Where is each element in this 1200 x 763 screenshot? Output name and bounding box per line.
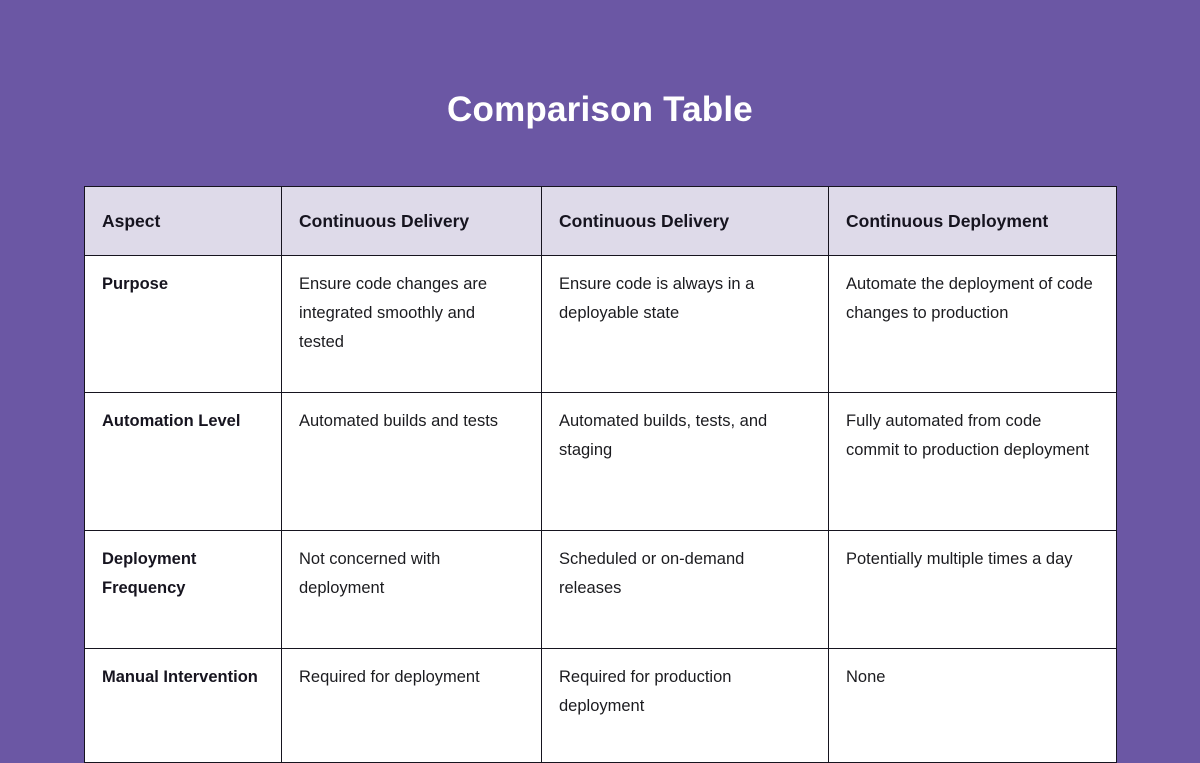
- table-body: Purpose Ensure code changes are integrat…: [85, 256, 1117, 763]
- cell-automation-level-continuous-deployment: Fully automated from code commit to prod…: [829, 393, 1117, 531]
- column-header-continuous-deployment: Continuous Deployment: [829, 187, 1117, 256]
- cell-purpose-continuous-deployment: Automate the deployment of code changes …: [829, 256, 1117, 393]
- column-header-continuous-delivery-1: Continuous Delivery: [282, 187, 542, 256]
- row-label-purpose: Purpose: [85, 256, 282, 393]
- comparison-table: Aspect Continuous Delivery Continuous De…: [84, 186, 1117, 763]
- column-header-continuous-delivery-2: Continuous Delivery: [542, 187, 829, 256]
- cell-purpose-continuous-delivery-1: Ensure code changes are integrated smoot…: [282, 256, 542, 393]
- row-label-deployment-frequency: Deployment Frequency: [85, 531, 282, 649]
- cell-automation-level-continuous-delivery-1: Automated builds and tests: [282, 393, 542, 531]
- table-header: Aspect Continuous Delivery Continuous De…: [85, 187, 1117, 256]
- table-row: Purpose Ensure code changes are integrat…: [85, 256, 1117, 393]
- table-row: Deployment Frequency Not concerned with …: [85, 531, 1117, 649]
- row-label-automation-level: Automation Level: [85, 393, 282, 531]
- comparison-table-container: Aspect Continuous Delivery Continuous De…: [84, 186, 1116, 763]
- page-title: Comparison Table: [0, 88, 1200, 132]
- row-label-manual-intervention: Manual Intervention: [85, 649, 282, 763]
- cell-purpose-continuous-delivery-2: Ensure code is always in a deployable st…: [542, 256, 829, 393]
- cell-manual-intervention-continuous-delivery-2: Required for production deployment: [542, 649, 829, 763]
- slide-canvas: Comparison Table Aspect Continuous Deliv…: [0, 0, 1200, 693]
- table-row: Manual Intervention Required for deploym…: [85, 649, 1117, 763]
- cell-deployment-frequency-continuous-delivery-2: Scheduled or on-demand releases: [542, 531, 829, 649]
- cell-deployment-frequency-continuous-deployment: Potentially multiple times a day: [829, 531, 1117, 649]
- cell-automation-level-continuous-delivery-2: Automated builds, tests, and staging: [542, 393, 829, 531]
- cell-manual-intervention-continuous-delivery-1: Required for deployment: [282, 649, 542, 763]
- table-header-row: Aspect Continuous Delivery Continuous De…: [85, 187, 1117, 256]
- cell-deployment-frequency-continuous-delivery-1: Not concerned with deployment: [282, 531, 542, 649]
- cell-manual-intervention-continuous-deployment: None: [829, 649, 1117, 763]
- column-header-aspect: Aspect: [85, 187, 282, 256]
- table-row: Automation Level Automated builds and te…: [85, 393, 1117, 531]
